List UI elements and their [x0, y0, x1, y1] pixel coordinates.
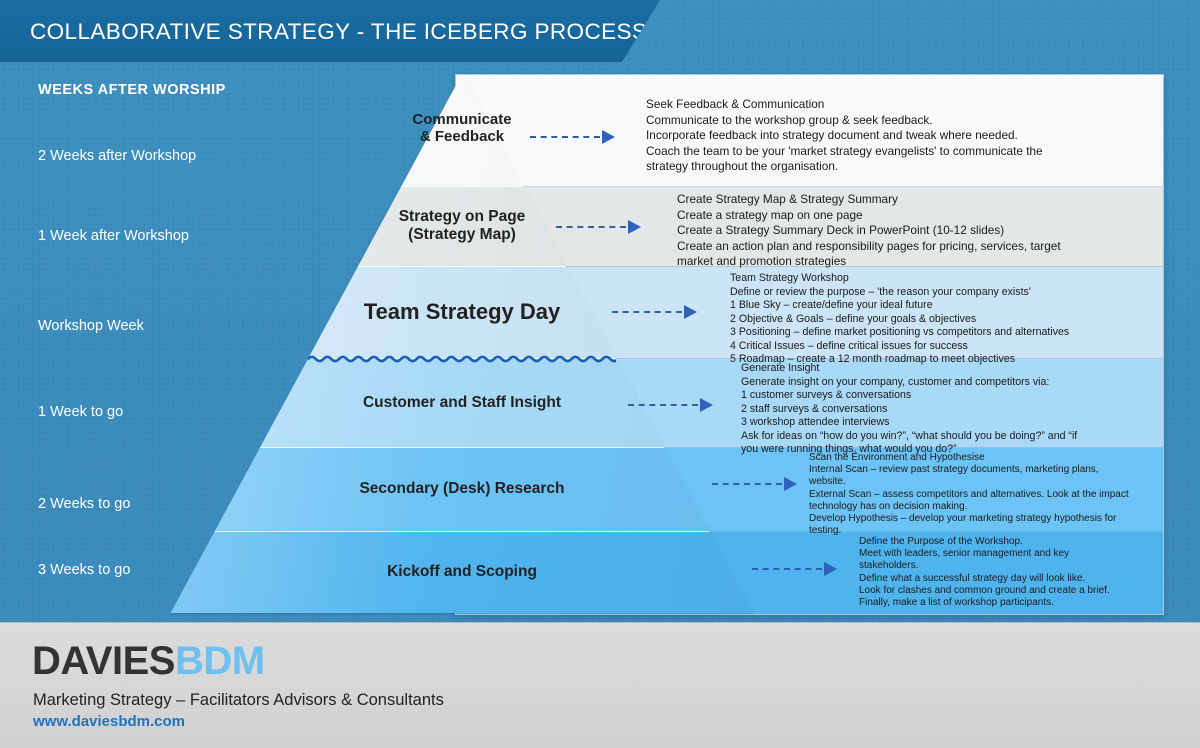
- company-website-link[interactable]: www.daviesbdm.com: [33, 713, 185, 730]
- panel-band-text: Scan the Environment and Hypothesise Int…: [809, 452, 1129, 537]
- page-title: COLLABORATIVE STRATEGY - THE ICEBERG PRO…: [30, 19, 647, 45]
- arrow-dash: [712, 483, 782, 485]
- process-arrow-icon: [556, 220, 643, 234]
- arrow-head: [700, 398, 713, 412]
- panel-band-text: Define the Purpose of the Workshop. Meet…: [859, 536, 1110, 609]
- timeline-item: 3 Weeks to go: [38, 562, 130, 578]
- timeline-column: WEEKS AFTER WORSHIP 2 Weeks after Worksh…: [0, 62, 330, 614]
- process-arrow-icon: [530, 130, 617, 144]
- timeline-item: Workshop Week: [38, 318, 144, 334]
- arrow-dash: [628, 404, 698, 406]
- pyramid-tier-divider: [401, 186, 522, 187]
- process-arrow-icon: [628, 398, 715, 412]
- company-logo: DAVIESBDM: [32, 639, 265, 684]
- company-tagline: Marketing Strategy – Facilitators Adviso…: [33, 691, 444, 710]
- arrow-head: [684, 305, 697, 319]
- timeline-item: 2 Weeks after Workshop: [38, 148, 196, 164]
- timeline-item: 1 Week to go: [38, 404, 123, 420]
- arrow-dash: [530, 136, 600, 138]
- arrow-dash: [612, 311, 682, 313]
- arrow-head: [628, 220, 641, 234]
- timeline-item: 1 Week after Workshop: [38, 228, 189, 244]
- logo-davies: DAVIES: [32, 639, 175, 683]
- process-arrow-icon: [712, 477, 799, 491]
- footer-bar: DAVIESBDM Marketing Strategy – Facilitat…: [0, 622, 1200, 748]
- title-banner: COLLABORATIVE STRATEGY - THE ICEBERG PRO…: [0, 0, 660, 62]
- process-arrow-icon: [612, 305, 699, 319]
- process-arrow-icon: [752, 562, 839, 576]
- arrow-head: [824, 562, 837, 576]
- pyramid-tier-divider: [358, 266, 566, 267]
- timeline-heading: WEEKS AFTER WORSHIP: [38, 82, 226, 98]
- arrow-head: [602, 130, 615, 144]
- waterline-wave: [308, 349, 615, 369]
- panel-band-text: Generate Insight Generate insight on you…: [741, 362, 1077, 457]
- logo-bdm: BDM: [175, 639, 265, 683]
- timeline-item: 2 Weeks to go: [38, 496, 130, 512]
- arrow-head: [784, 477, 797, 491]
- waterline-icon: [308, 349, 615, 369]
- arrow-dash: [556, 226, 626, 228]
- panel-band-text: Team Strategy Workshop Define or review …: [730, 272, 1069, 367]
- arrow-dash: [752, 568, 822, 570]
